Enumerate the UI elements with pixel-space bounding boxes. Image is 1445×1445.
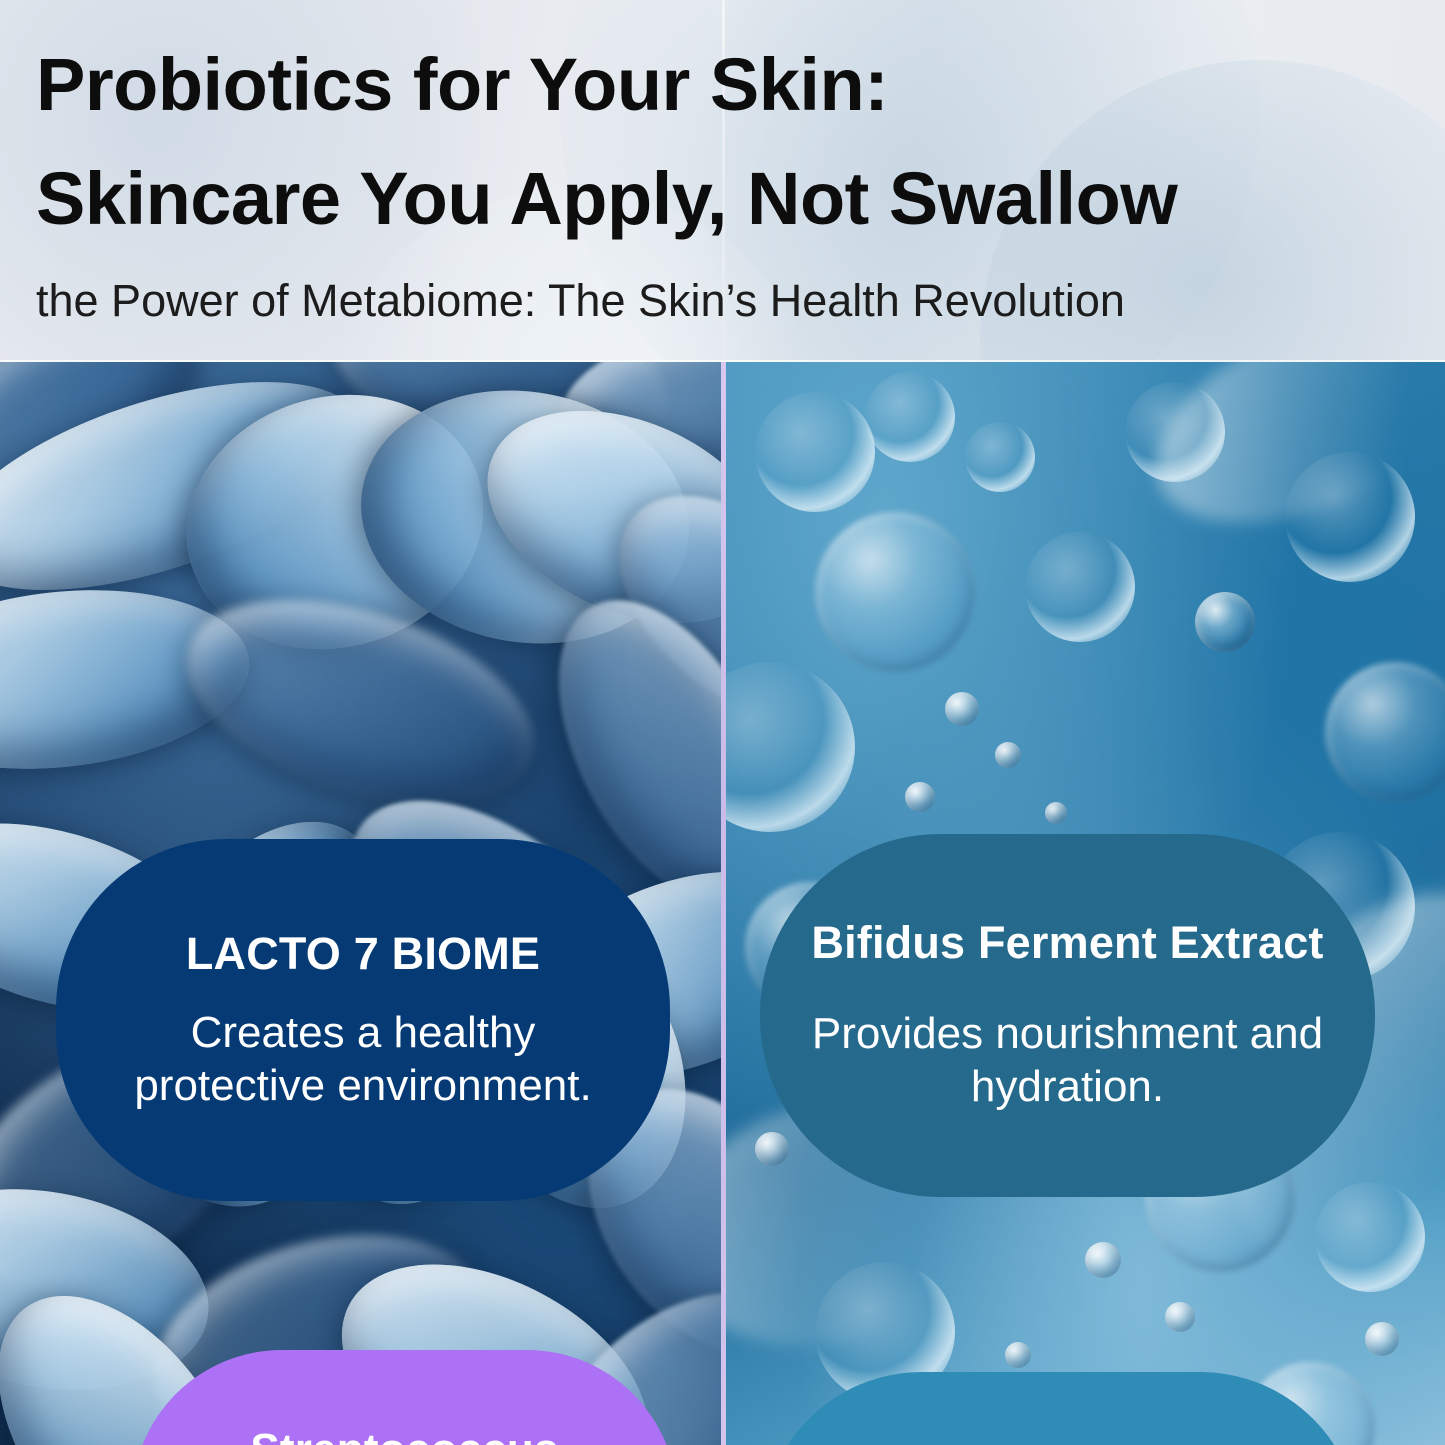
- left-panel: LACTO 7 BIOME Creates a healthy protecti…: [0, 362, 722, 1445]
- card-title: Bifidus Ferment Extract: [811, 917, 1323, 968]
- ingredient-card-lacto-7-biome[interactable]: LACTO 7 BIOME Creates a healthy protecti…: [56, 839, 670, 1201]
- card-title: Streptococcus Thermophilus Extract: [172, 1425, 637, 1445]
- right-panel: Bifidus Ferment Extract Provides nourish…: [725, 362, 1445, 1445]
- card-title: LACTO 7 BIOME: [186, 928, 540, 979]
- panel-divider: [721, 355, 726, 1445]
- card-description: Provides nourishment and hydration.: [800, 1008, 1335, 1114]
- page-title-line-2: Skincare You Apply, Not Swallow: [36, 162, 1177, 236]
- card-description: Creates a healthy protective environment…: [96, 1007, 630, 1113]
- ingredient-card-bifidus-ferment-extract[interactable]: Bifidus Ferment Extract Provides nourish…: [760, 834, 1375, 1197]
- header-banner: Probiotics for Your Skin: Skincare You A…: [0, 0, 1445, 362]
- page-subtitle: the Power of Metabiome: The Skin’s Healt…: [36, 278, 1125, 323]
- header-bottom-rule: [0, 360, 1445, 362]
- page-title-line-1: Probiotics for Your Skin:: [36, 48, 888, 122]
- infographic-poster: LACTO 7 BIOME Creates a healthy protecti…: [0, 0, 1445, 1445]
